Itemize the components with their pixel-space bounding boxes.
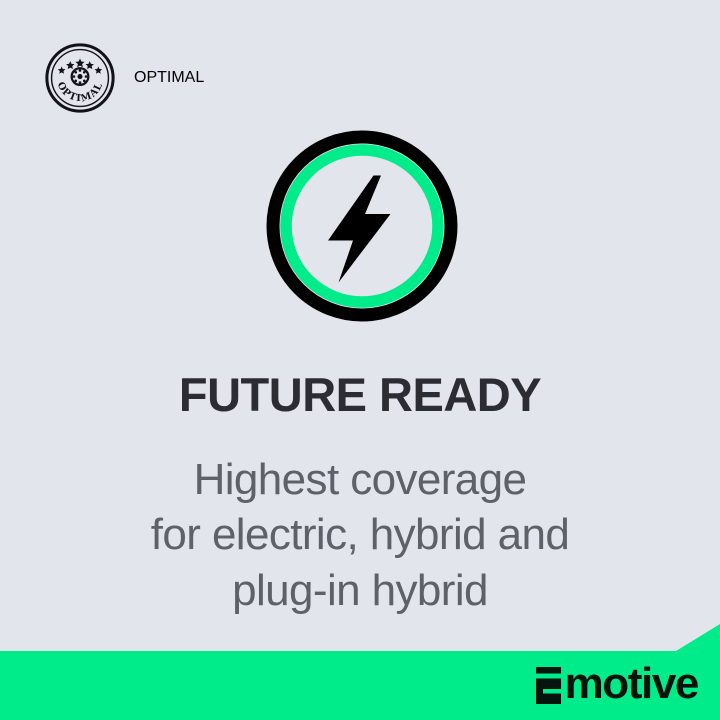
subheading-line-1: Highest coverage [0, 452, 720, 507]
bolt-glyph [328, 176, 391, 283]
subheading-line-3: plug-in hybrid [0, 563, 720, 618]
brand-wordmark: OPTIMAL [134, 69, 204, 87]
hero-emblem [266, 130, 458, 322]
page-title: FUTURE READY [0, 370, 720, 419]
subheading: Highest coverage for electric, hybrid an… [0, 452, 720, 618]
footer-band: motive [0, 624, 720, 720]
emotive-logo-text: motive [565, 662, 698, 706]
brand-lockup: OPTIMAL OPTIMAL [44, 42, 204, 114]
emotive-e-icon [535, 667, 562, 705]
optimal-seal-icon: OPTIMAL [44, 42, 116, 114]
lightning-bolt-in-circle-icon [266, 130, 458, 322]
promo-card: OPTIMAL OPTIMAL [0, 0, 720, 720]
emotive-logo: motive [535, 662, 698, 706]
subheading-line-2: for electric, hybrid and [0, 507, 720, 562]
